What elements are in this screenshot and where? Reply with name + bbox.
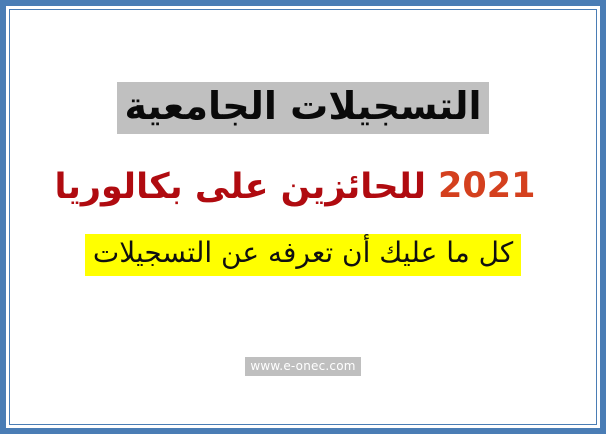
year-text: 2021 xyxy=(438,166,535,206)
watermark-row: www.e-onec.com xyxy=(0,355,606,376)
poster-image: التسجيلات الجامعية 2021للحائزين على بكال… xyxy=(0,0,606,434)
poster-content: التسجيلات الجامعية 2021للحائزين على بكال… xyxy=(0,0,606,434)
watermark-url: www.e-onec.com xyxy=(245,357,360,376)
headline-text: التسجيلات الجامعية xyxy=(117,82,488,134)
note-row: كل ما عليك أن تعرفه عن التسجيلات xyxy=(0,234,606,276)
subheadline-text: للحائزين على بكالوريا xyxy=(55,170,426,205)
subheadline-row: 2021للحائزين على بكالوريا xyxy=(0,165,606,210)
headline-row: التسجيلات الجامعية xyxy=(0,82,606,134)
note-text: كل ما عليك أن تعرفه عن التسجيلات xyxy=(85,234,521,276)
year-badge: 2021 xyxy=(426,165,547,210)
